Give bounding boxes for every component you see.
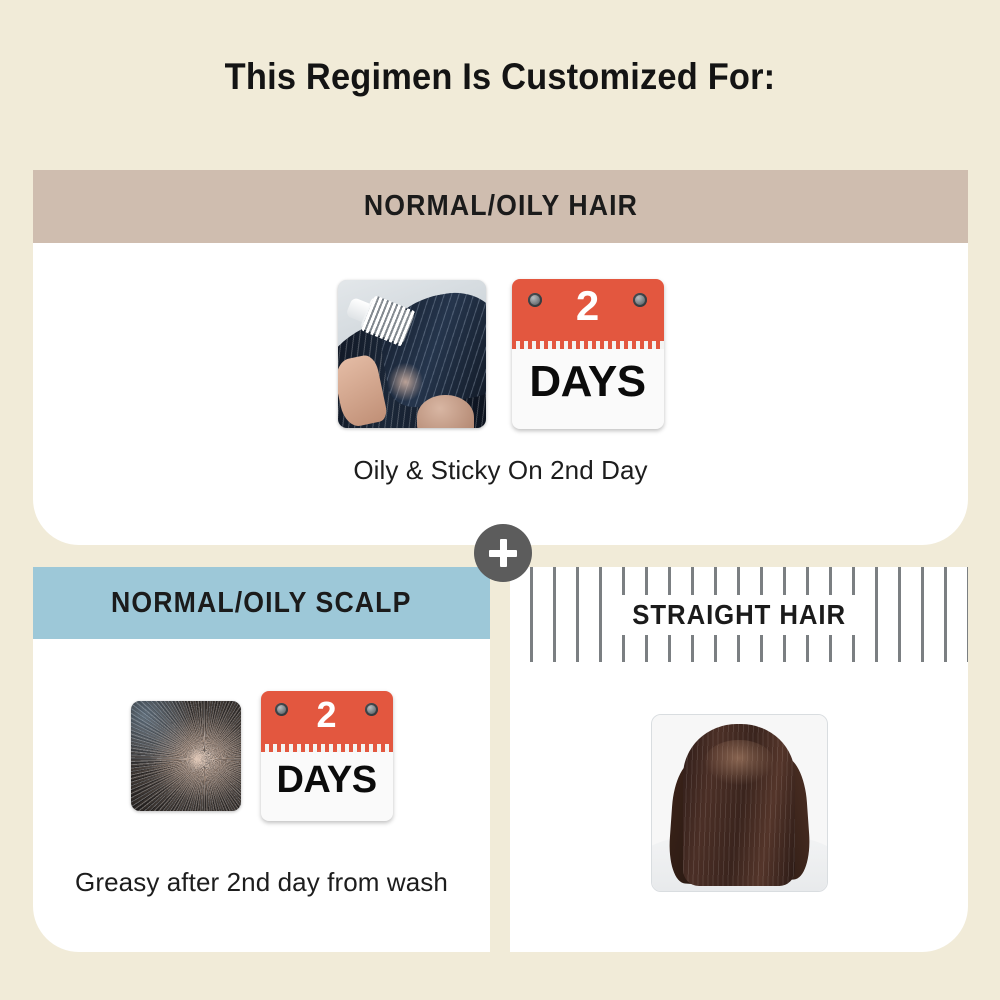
photo-straight-hair (651, 714, 828, 892)
media-row: 2 DAYS (33, 691, 490, 821)
calendar-day-label: DAYS (261, 761, 393, 799)
card-header-straight-hair: STRAIGHT HAIR (510, 567, 968, 662)
page-title: This Regimen Is Customized For: (35, 56, 965, 98)
media-row: 2 DAYS (33, 279, 968, 429)
card-caption-normal-oily-hair: Oily & Sticky On 2nd Day (33, 455, 968, 486)
card-body-normal-oily-scalp: 2 DAYS Greasy after 2nd day from wash (33, 639, 490, 952)
card-straight-hair: STRAIGHT HAIR (510, 567, 968, 952)
calendar-tear-edge (512, 341, 664, 349)
hair-comb-illustration (338, 280, 486, 428)
regimen-customization-page: This Regimen Is Customized For: NORMAL/O… (0, 0, 1000, 1000)
calendar-icon-2-days: 2 DAYS (261, 691, 393, 821)
calendar-day-label: DAYS (512, 360, 664, 404)
calendar-day-number: 2 (261, 697, 393, 733)
plus-icon (474, 524, 532, 582)
card-normal-oily-scalp: NORMAL/OILY SCALP (33, 567, 490, 952)
calendar-day-number: 2 (512, 285, 664, 327)
card-header-label: STRAIGHT HAIR (621, 595, 857, 635)
card-header-label: NORMAL/OILY SCALP (111, 587, 411, 620)
card-caption-normal-oily-scalp: Greasy after 2nd day from wash (33, 867, 490, 898)
photo-oily-hair-comb (338, 280, 486, 428)
card-header-label: NORMAL/OILY HAIR (363, 190, 637, 223)
photo-oily-scalp (131, 701, 241, 811)
scalp-illustration (131, 701, 241, 811)
card-header-normal-oily-scalp: NORMAL/OILY SCALP (33, 567, 490, 639)
card-normal-oily-hair: NORMAL/OILY HAIR (33, 170, 968, 545)
card-body-normal-oily-hair: 2 DAYS Oily & Sticky On 2nd Day (33, 243, 968, 545)
calendar-tear-edge (261, 744, 393, 752)
card-header-normal-oily-hair: NORMAL/OILY HAIR (33, 170, 968, 243)
card-body-straight-hair (510, 662, 968, 952)
straight-hair-illustration (652, 715, 827, 891)
calendar-icon-2-days: 2 DAYS (512, 279, 664, 429)
